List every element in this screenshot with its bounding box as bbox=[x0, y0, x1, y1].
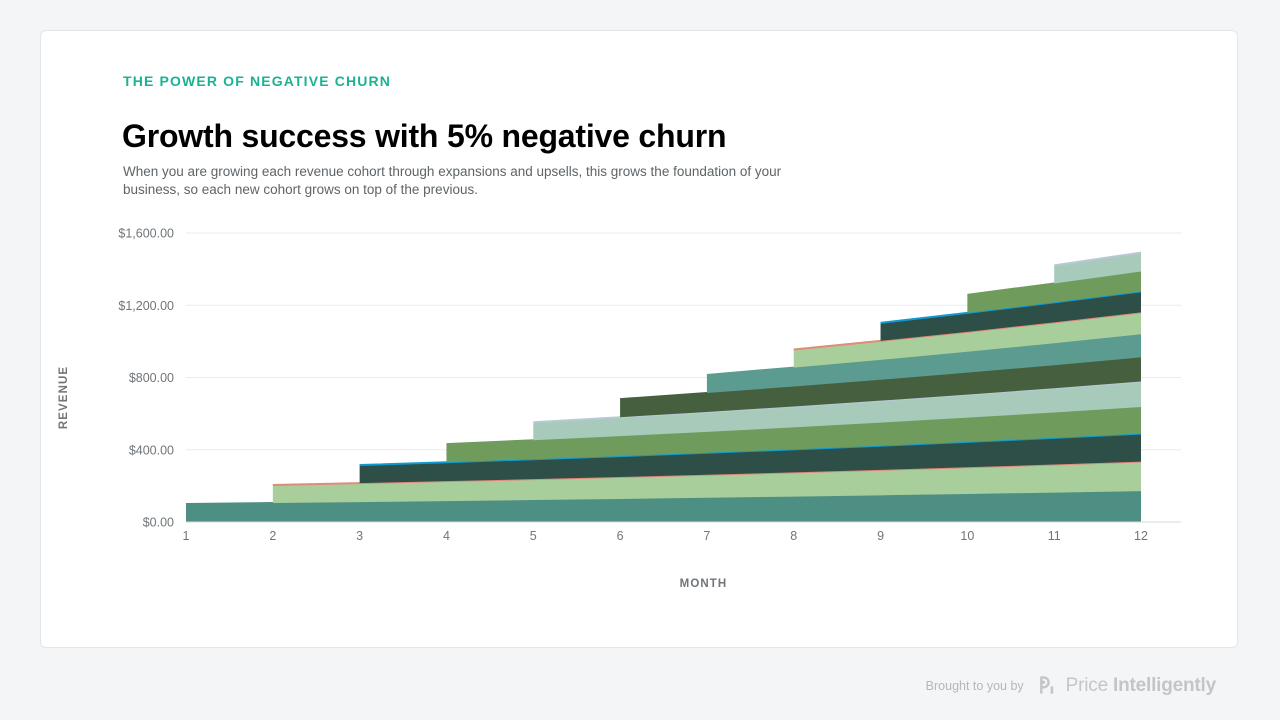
price-intelligently-logo-icon bbox=[1033, 674, 1057, 698]
chart-area: $0.00$400.00$800.00$1,200.00$1,600.00123… bbox=[41, 31, 1239, 649]
y-axis-tick-label: $1,200.00 bbox=[118, 299, 174, 313]
brought-to-you-by-label: Brought to you by bbox=[926, 679, 1024, 693]
x-axis-tick-label: 2 bbox=[269, 529, 276, 543]
y-axis-title: REVENUE bbox=[58, 366, 70, 429]
x-axis-tick-label: 7 bbox=[703, 529, 710, 543]
x-axis-tick-label: 11 bbox=[1048, 529, 1061, 543]
y-axis-tick-label: $400.00 bbox=[129, 443, 174, 457]
x-axis-tick-label: 3 bbox=[356, 529, 363, 543]
x-axis-tick-label: 8 bbox=[790, 529, 797, 543]
brand-name: Price Intelligently bbox=[1066, 675, 1216, 697]
stacked-area-chart: $0.00$400.00$800.00$1,200.00$1,600.00123… bbox=[41, 31, 1239, 649]
x-axis-tick-label: 9 bbox=[877, 529, 884, 543]
y-axis-tick-label: $0.00 bbox=[143, 516, 174, 530]
x-axis-tick-label: 5 bbox=[530, 529, 537, 543]
x-axis-tick-label: 4 bbox=[443, 529, 450, 543]
chart-card: THE POWER OF NEGATIVE CHURN Growth succe… bbox=[40, 30, 1238, 648]
footer-attribution: Brought to you by Price Intelligently bbox=[0, 668, 1280, 704]
x-axis-tick-label: 10 bbox=[960, 529, 974, 543]
y-axis-tick-label: $1,600.00 bbox=[118, 227, 174, 241]
x-axis-title: MONTH bbox=[680, 578, 728, 590]
x-axis-tick-label: 12 bbox=[1134, 529, 1148, 543]
x-axis-tick-label: 1 bbox=[183, 529, 190, 543]
y-axis-tick-label: $800.00 bbox=[129, 371, 174, 385]
x-axis-tick-label: 6 bbox=[617, 529, 624, 543]
